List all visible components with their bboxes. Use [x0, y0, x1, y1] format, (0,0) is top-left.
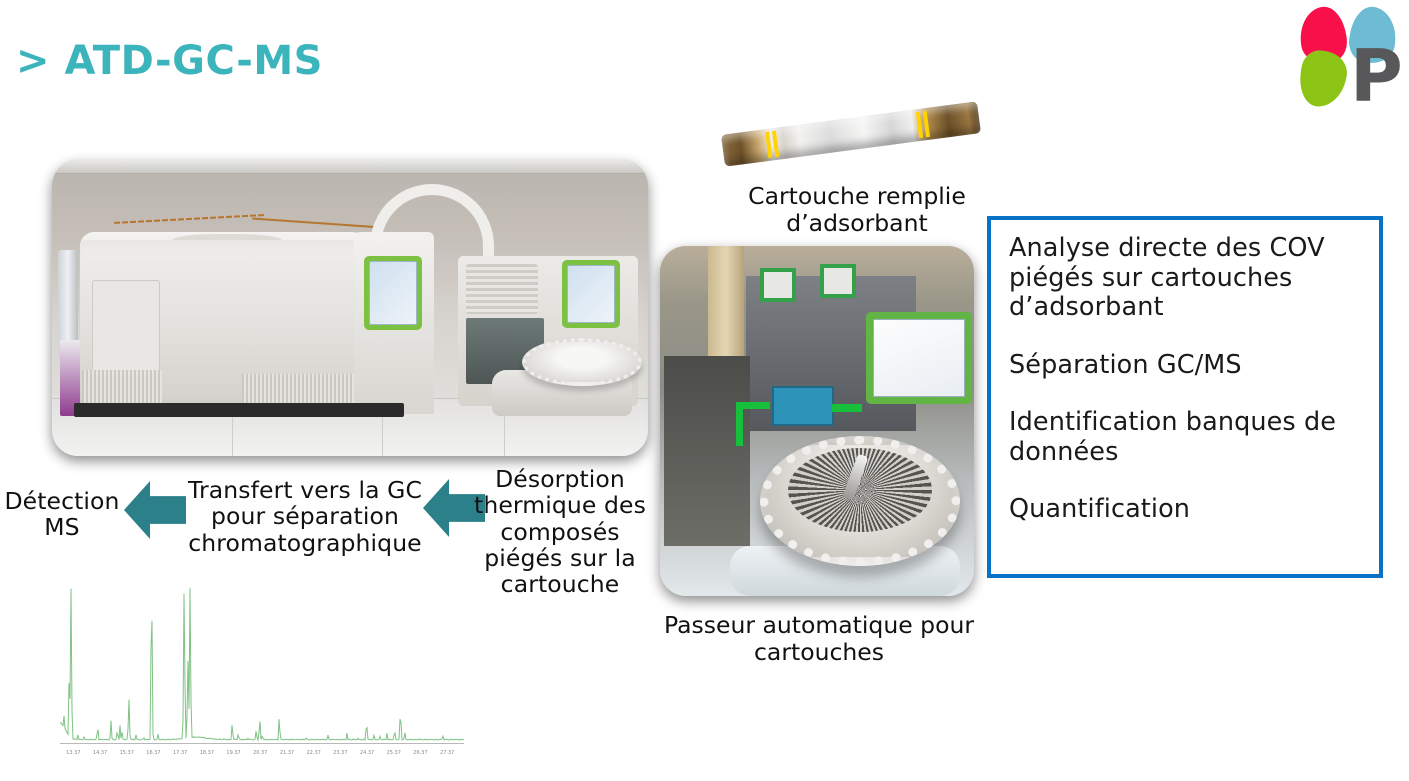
flow-step-label-detection: Détection MS [2, 488, 122, 541]
slide-root: > ATD-GC-MS P [0, 0, 1409, 781]
logo-petal-green-icon [1296, 48, 1349, 110]
chromatogram-tick-label: 22.37 [306, 750, 320, 756]
key-points-box: Analyse directe des COV piégés sur carto… [987, 216, 1383, 578]
sorbent-cartridge-photo [721, 101, 981, 166]
bullet-item: Quantification [1009, 495, 1363, 525]
bullet-item: Analyse directe des COV piégés sur carto… [1009, 234, 1363, 323]
logo-letter: P [1350, 45, 1403, 107]
flow-step-label-transfer: Transfert vers la GC pour séparation chr… [186, 477, 424, 556]
chromatogram-tick-label: 15.37 [120, 750, 134, 756]
flow-arrow-left-icon-1 [124, 481, 186, 539]
chromatogram-tick-label: 26.37 [413, 750, 427, 756]
caption-autosampler: Passeur automatique pour cartouches [660, 612, 978, 666]
instrument-touchscreen-2-icon [562, 260, 620, 328]
autosampler-photo [660, 246, 974, 596]
chromatogram-tick-label: 27.37 [440, 750, 454, 756]
chromatogram-tick-label: 20.37 [253, 750, 267, 756]
chromatogram-tick-label: 23.37 [333, 750, 347, 756]
chromatogram-tick-label: 24.37 [360, 750, 374, 756]
bullet-item: Identification banques de données [1009, 408, 1363, 467]
chromatogram-chart: 13.3714.3715.3716.3717.3718.3719.3720.37… [60, 586, 464, 768]
chromatogram-x-axis [60, 743, 464, 744]
instrument-touchscreen-1-icon [364, 256, 422, 330]
chromatogram-trace [60, 586, 464, 768]
chromatogram-tick-label: 17.37 [173, 750, 187, 756]
chromatogram-tick-label: 21.37 [280, 750, 294, 756]
chromatogram-tick-label: 25.37 [387, 750, 401, 756]
autosampler-touchscreen-icon [866, 312, 972, 404]
flow-step-label-desorption: Désorption thermique des composés piégés… [472, 466, 648, 598]
chromatogram-tick-label: 16.37 [146, 750, 160, 756]
bullet-item: Séparation GC/MS [1009, 351, 1363, 381]
page-title: > ATD-GC-MS [16, 38, 323, 84]
brand-logo: P [1298, 5, 1402, 105]
chromatogram-tick-labels: 13.3714.3715.3716.3717.3718.3719.3720.37… [60, 745, 464, 758]
gcms-instrument-photo [52, 160, 648, 456]
chromatogram-tick-label: 19.37 [226, 750, 240, 756]
caption-cartridge: Cartouche remplie d’adsorbant [742, 183, 972, 237]
chromatogram-tick-label: 13.37 [66, 750, 80, 756]
chromatogram-tick-label: 14.37 [93, 750, 107, 756]
chromatogram-tick-label: 18.37 [200, 750, 214, 756]
